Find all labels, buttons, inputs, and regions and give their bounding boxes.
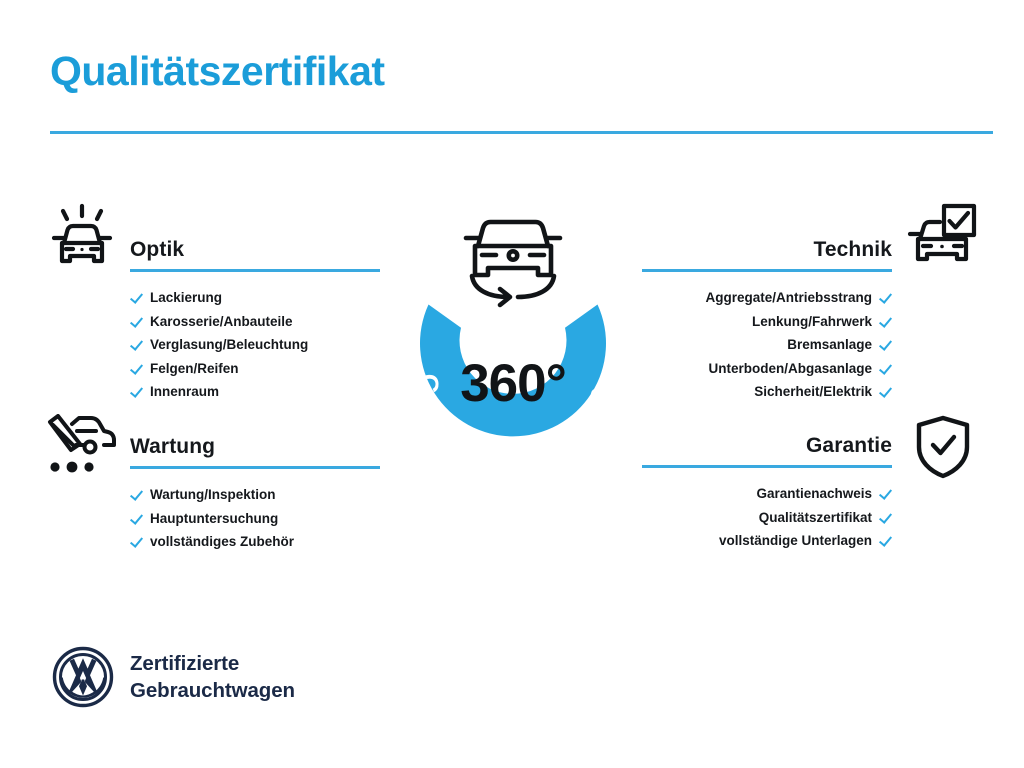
section-wartung: Wartung Wartung/InspektionHauptuntersuch… (130, 435, 380, 554)
gebrauchtwagen-check-badge: Gebrauchtwagen-Check 360° (372, 196, 654, 496)
checklist-item: Unterboden/Abgasanlage (642, 357, 892, 381)
check-icon (879, 534, 892, 547)
check-icon (879, 385, 892, 398)
checklist-item-label: Aggregate/Antriebsstrang (705, 286, 872, 310)
checklist-item-label: Qualitätszertifikat (759, 506, 872, 530)
checklist-item-label: Bremsanlage (787, 333, 872, 357)
checklist-item-label: vollständige Unterlagen (719, 529, 872, 553)
service-pen-car-icon (44, 414, 120, 481)
section-heading-optik: Optik (130, 238, 380, 261)
checklist-item: Lenkung/Fahrwerk (642, 310, 892, 334)
checklist-item-label: Lenkung/Fahrwerk (752, 310, 872, 334)
checklist-item: Sicherheit/Elektrik (642, 380, 892, 404)
section-divider-garantie (642, 465, 892, 468)
title-divider (50, 131, 993, 134)
certificate-page: Qualitätszertifikat (0, 0, 1024, 768)
vw-logo (52, 646, 114, 708)
section-divider-technik (642, 269, 892, 272)
check-icon (130, 315, 143, 328)
section-heading-wartung: Wartung (130, 435, 380, 458)
check-icon (130, 385, 143, 398)
checklist-item: Innenraum (130, 380, 380, 404)
checklist-item: Hauptuntersuchung (130, 507, 380, 531)
footer-line-2: Gebrauchtwagen (130, 677, 295, 704)
checklist-item: vollständige Unterlagen (642, 529, 892, 553)
check-icon (879, 362, 892, 375)
section-heading-technik: Technik (642, 238, 892, 261)
checklist-item: Garantienachweis (642, 482, 892, 506)
section-garantie: Garantie GarantienachweisQualitätszertif… (642, 434, 892, 553)
check-icon (130, 338, 143, 351)
check-icon (130, 488, 143, 501)
checklist-item: Aggregate/Antriebsstrang (642, 286, 892, 310)
section-list-optik: LackierungKarosserie/AnbauteileVerglasun… (130, 286, 380, 404)
section-optik: Optik LackierungKarosserie/AnbauteileVer… (130, 238, 380, 404)
section-list-wartung: Wartung/InspektionHauptuntersuchungvolls… (130, 483, 380, 554)
footer-line-1: Zertifizierte (130, 650, 295, 677)
check-icon (879, 315, 892, 328)
check-icon (879, 338, 892, 351)
section-divider-wartung (130, 466, 380, 469)
section-list-technik: Aggregate/AntriebsstrangLenkung/Fahrwerk… (642, 286, 892, 404)
checklist-item: vollständiges Zubehör (130, 530, 380, 554)
checklist-item-label: Unterboden/Abgasanlage (708, 357, 872, 381)
page-title: Qualitätszertifikat (50, 48, 385, 95)
check-icon (879, 511, 892, 524)
checklist-item-label: Innenraum (150, 380, 219, 404)
car-front-rotation-icon (466, 222, 560, 305)
section-list-garantie: GarantienachweisQualitätszertifikatvolls… (642, 482, 892, 553)
checklist-item-label: Karosserie/Anbauteile (150, 310, 293, 334)
checklist-item-label: Felgen/Reifen (150, 357, 239, 381)
section-divider-optik (130, 269, 380, 272)
check-icon (879, 291, 892, 304)
checklist-item: Karosserie/Anbauteile (130, 310, 380, 334)
checklist-item: Felgen/Reifen (130, 357, 380, 381)
check-icon (130, 512, 143, 525)
footer-brand-text: Zertifizierte Gebrauchtwagen (130, 650, 295, 704)
checklist-item: Bremsanlage (642, 333, 892, 357)
checklist-item: Wartung/Inspektion (130, 483, 380, 507)
check-icon (130, 291, 143, 304)
checklist-item: Verglasung/Beleuchtung (130, 333, 380, 357)
car-front-shine-icon (46, 203, 118, 278)
checklist-item-label: Garantienachweis (756, 482, 872, 506)
footer-brand: Zertifizierte Gebrauchtwagen (52, 646, 295, 708)
checklist-item-label: Hauptuntersuchung (150, 507, 278, 531)
section-technik: Technik Aggregate/AntriebsstrangLenkung/… (642, 238, 892, 404)
checklist-item-label: vollständiges Zubehör (150, 530, 294, 554)
section-heading-garantie: Garantie (642, 434, 892, 457)
check-icon (130, 362, 143, 375)
checklist-item-label: Wartung/Inspektion (150, 483, 276, 507)
checklist-item: Qualitätszertifikat (642, 506, 892, 530)
checklist-item: Lackierung (130, 286, 380, 310)
check-icon (879, 487, 892, 500)
shield-check-icon (911, 414, 975, 485)
checklist-item-label: Lackierung (150, 286, 222, 310)
badge-ring: Gebrauchtwagen-Check (372, 196, 654, 496)
checklist-item-label: Verglasung/Beleuchtung (150, 333, 308, 357)
car-front-checkbox-icon (906, 203, 980, 276)
checklist-item-label: Sicherheit/Elektrik (754, 380, 872, 404)
check-icon (130, 535, 143, 548)
